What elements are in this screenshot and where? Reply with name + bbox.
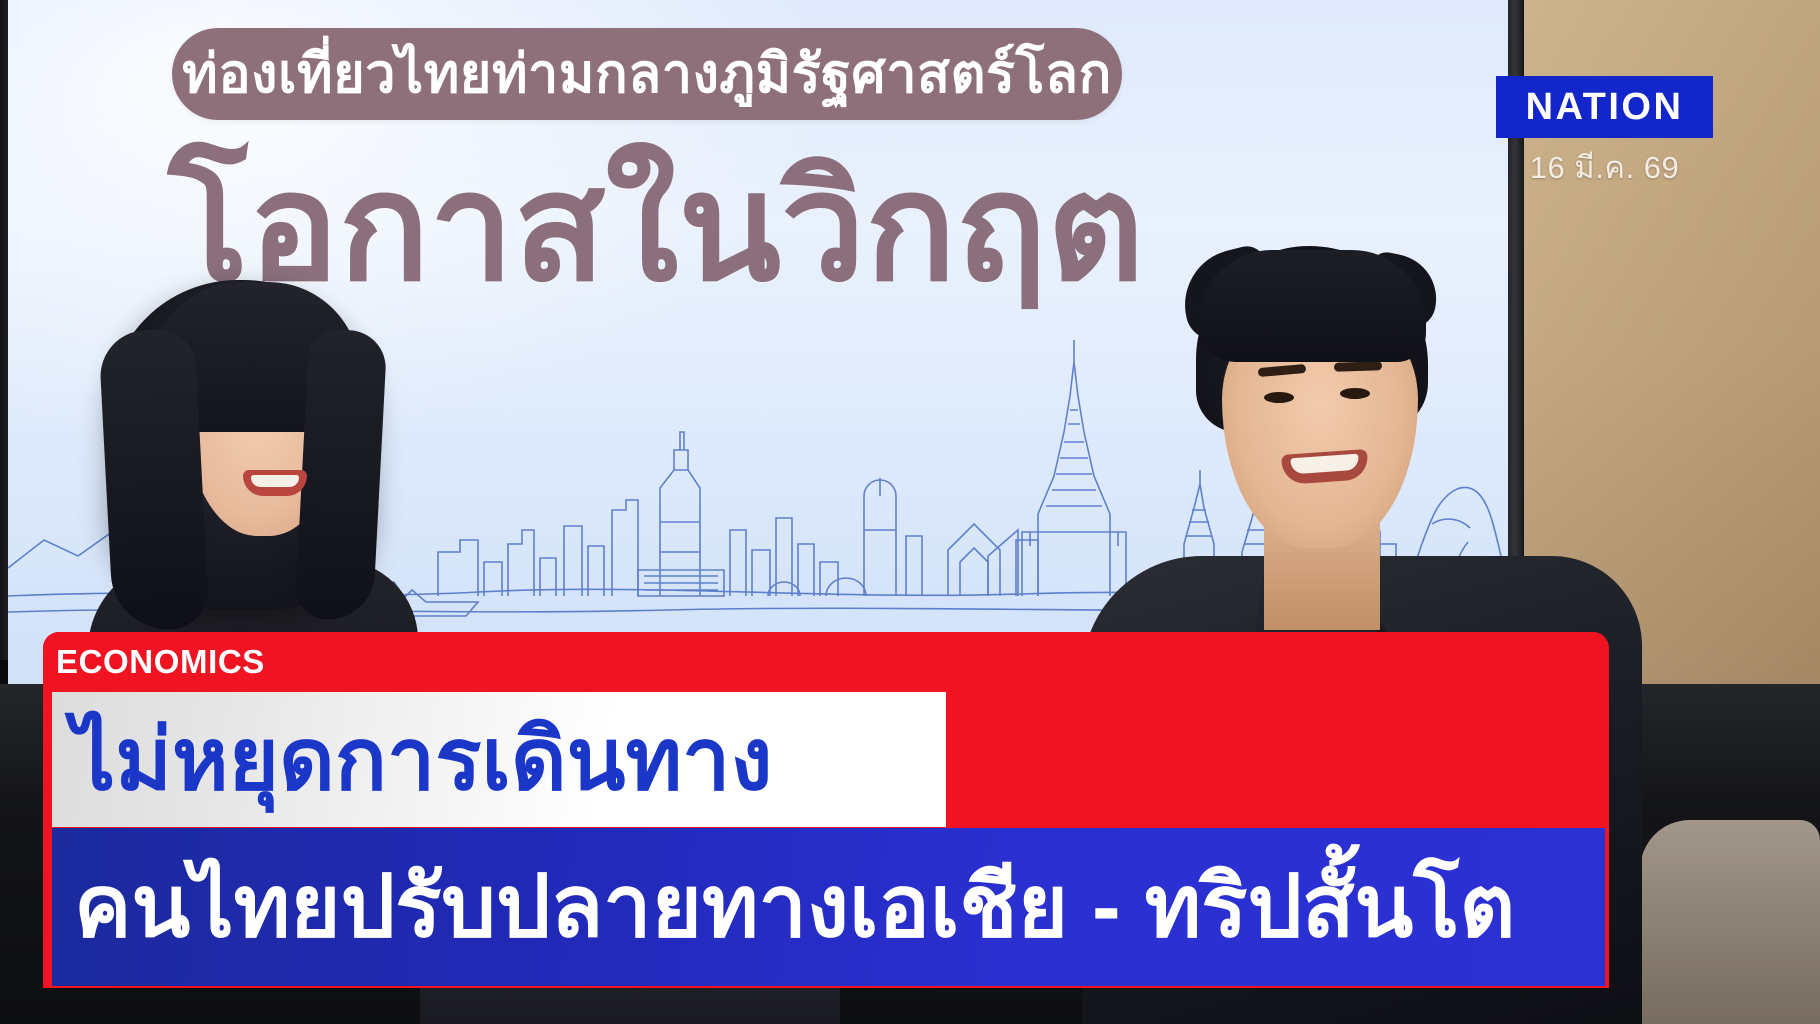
slide-pill-title: ท่องเที่ยวไทยท่ามกลางภูมิรัฐศาสตร์โลก [172,28,1122,120]
woman-hair-right [294,328,387,622]
slide-main-title: โอกาสในวิกฤต [168,152,1144,302]
woman-mouth [243,470,307,496]
category-badge-label: ECONOMICS [43,643,265,681]
subheadline-text: คนไทยปรับปลายทางเอเชีย - ทริปสั้นโต [52,864,1515,950]
armchair-right [1640,820,1820,1024]
broadcast-date: 16 มี.ค. 69 [1496,142,1713,192]
headline-text: ไม่หยุดการเดินทาง [52,717,772,803]
man-fringe [1198,250,1426,362]
subheadline-bar: คนไทยปรับปลายทางเอเชีย - ทริปสั้นโต [52,828,1605,986]
nation-logo: NATION [1496,76,1713,138]
woman-hair-left [98,328,210,633]
man-eye-left [1264,392,1294,403]
man-brow-right [1334,361,1382,372]
network-logo-group: NATION 16 มี.ค. 69 [1496,76,1713,192]
man-eye-right [1340,388,1370,399]
news-card-screenshot: ท่องเที่ยวไทยท่ามกลางภูมิรัฐศาสตร์โลก โอ… [0,0,1820,1024]
man-brow-left [1258,364,1307,377]
headline-box: ไม่หยุดการเดินทาง [52,692,946,827]
slide-pill-title-text: ท่องเที่ยวไทยท่ามกลางภูมิรัฐศาสตร์โลก [182,47,1112,101]
category-badge: ECONOMICS [43,632,291,692]
nation-logo-text: NATION [1526,86,1684,129]
